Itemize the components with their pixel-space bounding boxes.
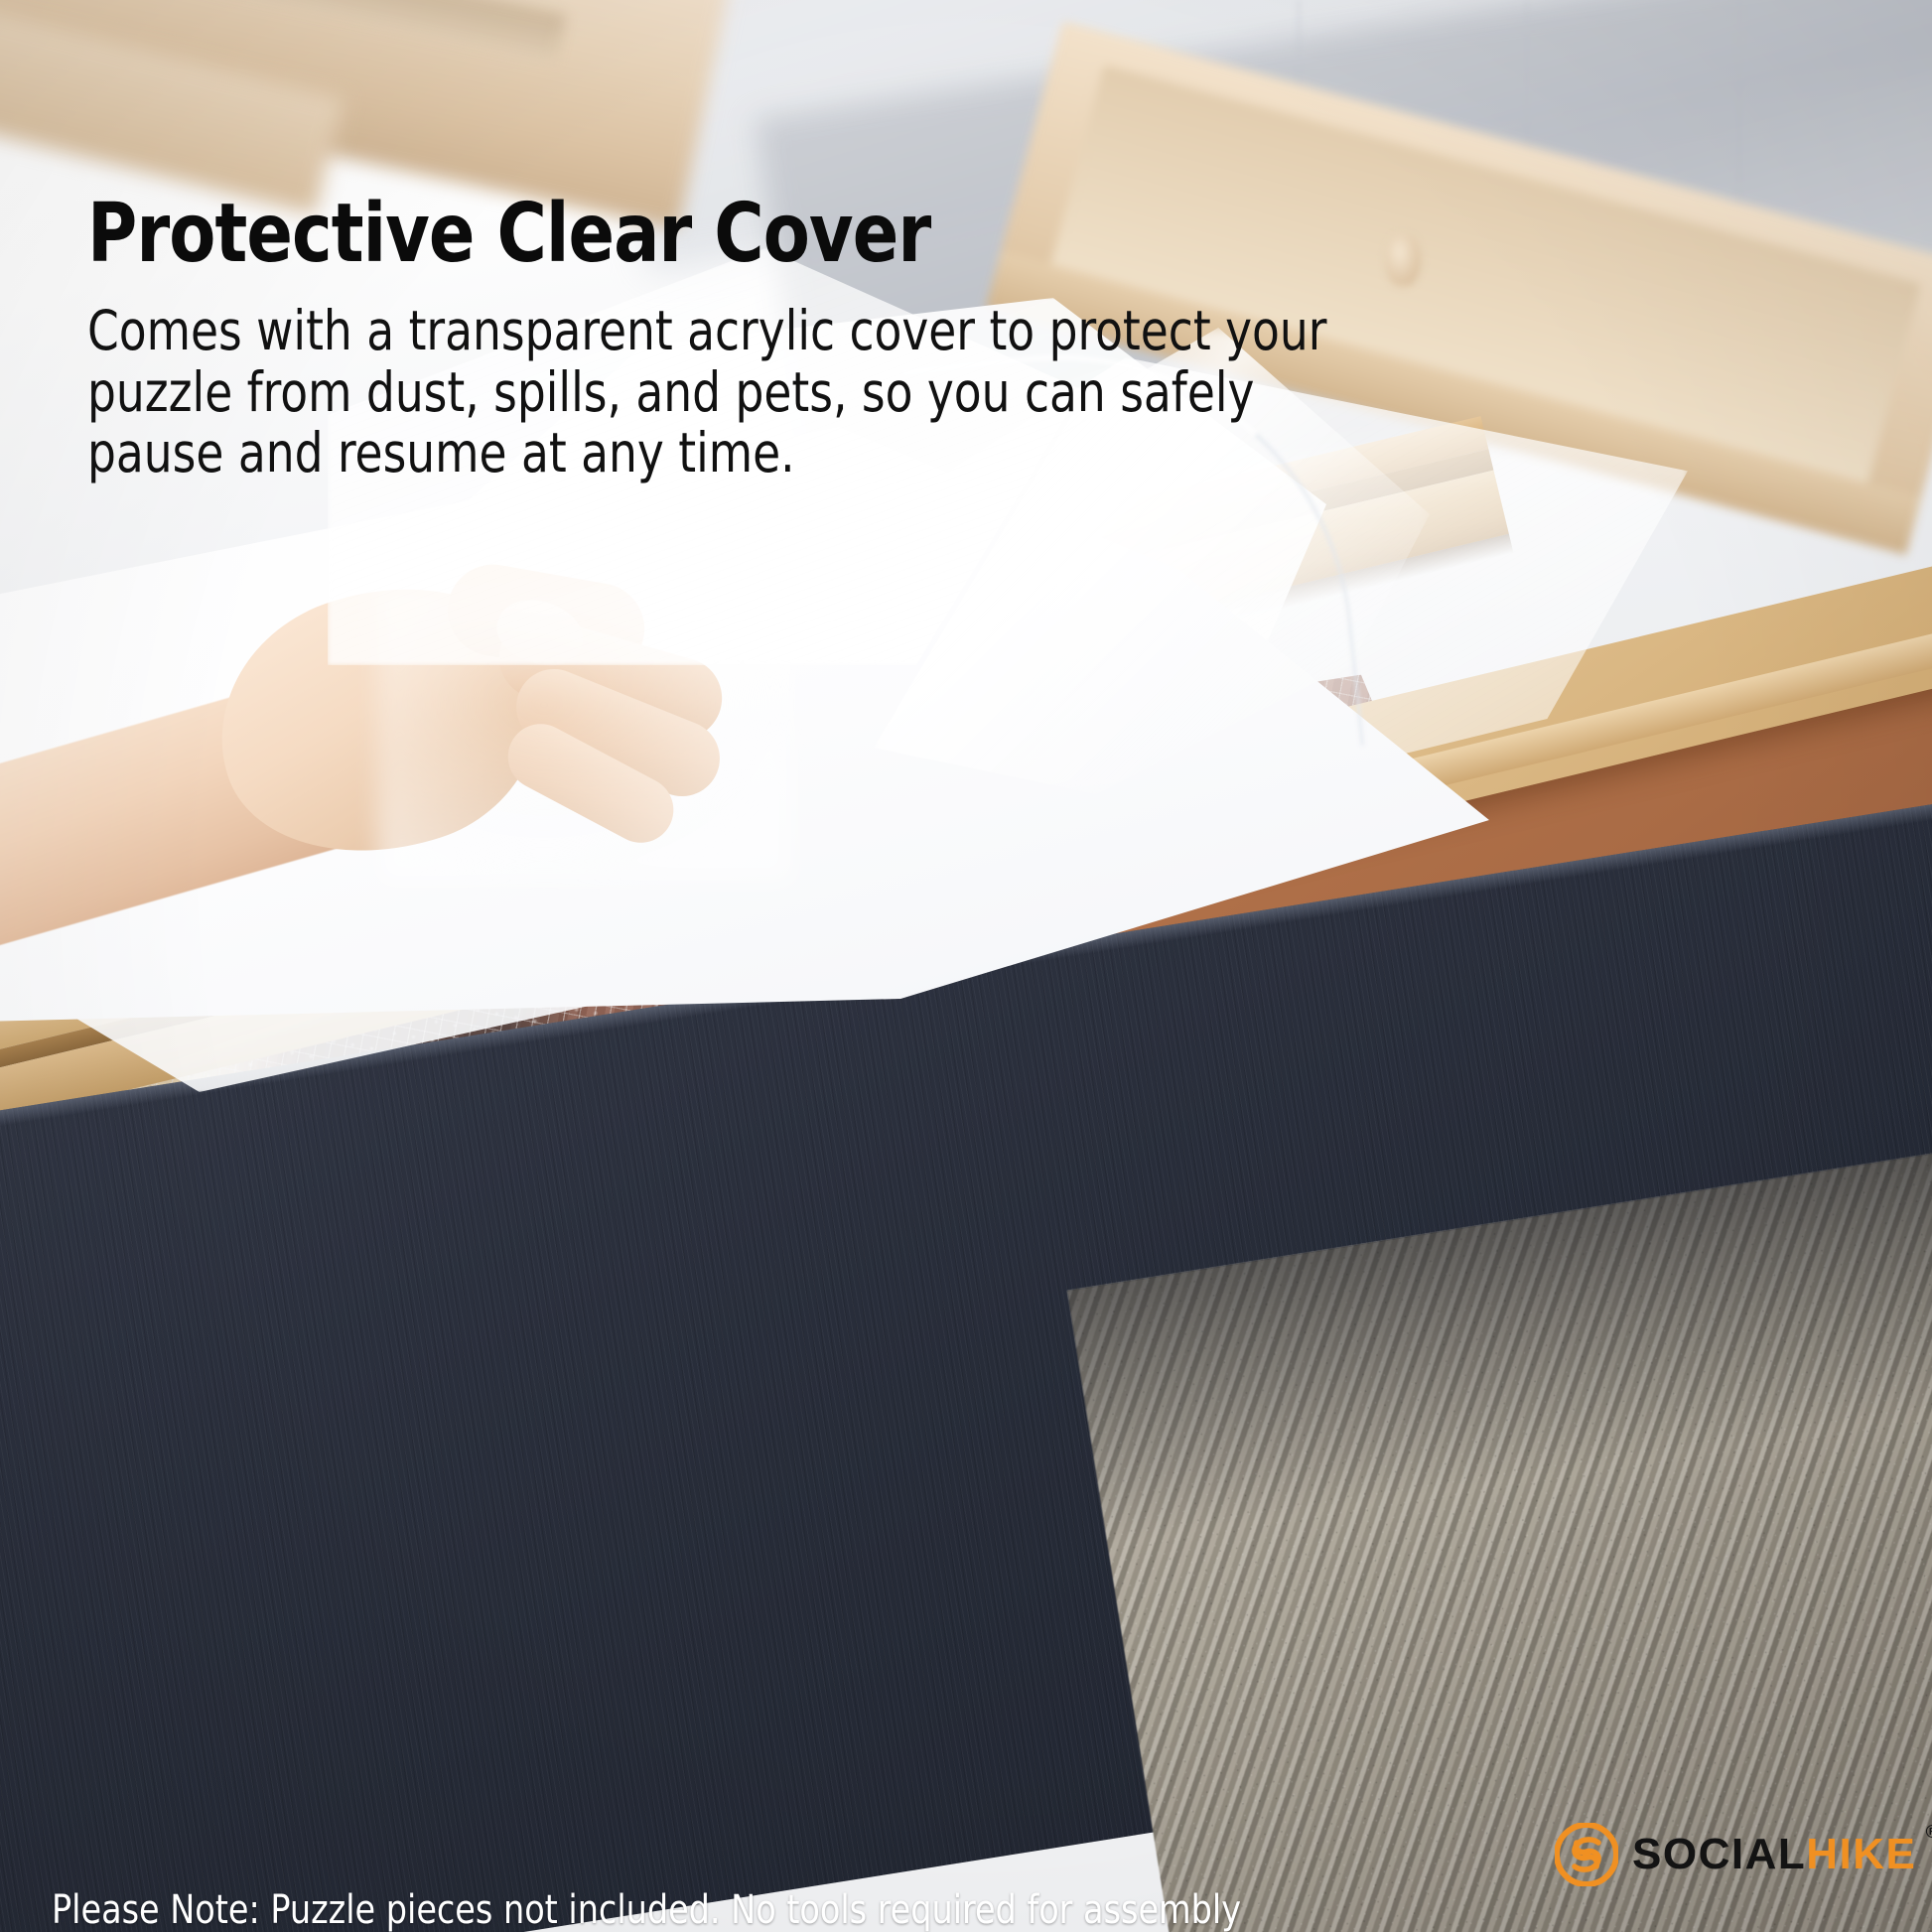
description-text: Comes with a transparent acrylic cover t… (87, 301, 1403, 484)
product-photo (0, 0, 1932, 1932)
page-title: Protective Clear Cover (87, 194, 930, 275)
footer-note: Please Note: Puzzle pieces not included.… (52, 1890, 1241, 1930)
brand-name-social: SOCIAL (1632, 1830, 1806, 1878)
tray-knob (1385, 234, 1421, 286)
brand-name-hike: HIKE (1806, 1830, 1916, 1878)
brand-logo[interactable]: SOCIALHIKE ® (1555, 1823, 1916, 1886)
registered-trademark-icon: ® (1926, 1823, 1932, 1841)
brand-wordmark: SOCIALHIKE ® (1632, 1833, 1916, 1876)
product-infographic: Protective Clear Cover Comes with a tran… (0, 0, 1932, 1932)
socialhike-spiral-icon (1555, 1823, 1618, 1886)
